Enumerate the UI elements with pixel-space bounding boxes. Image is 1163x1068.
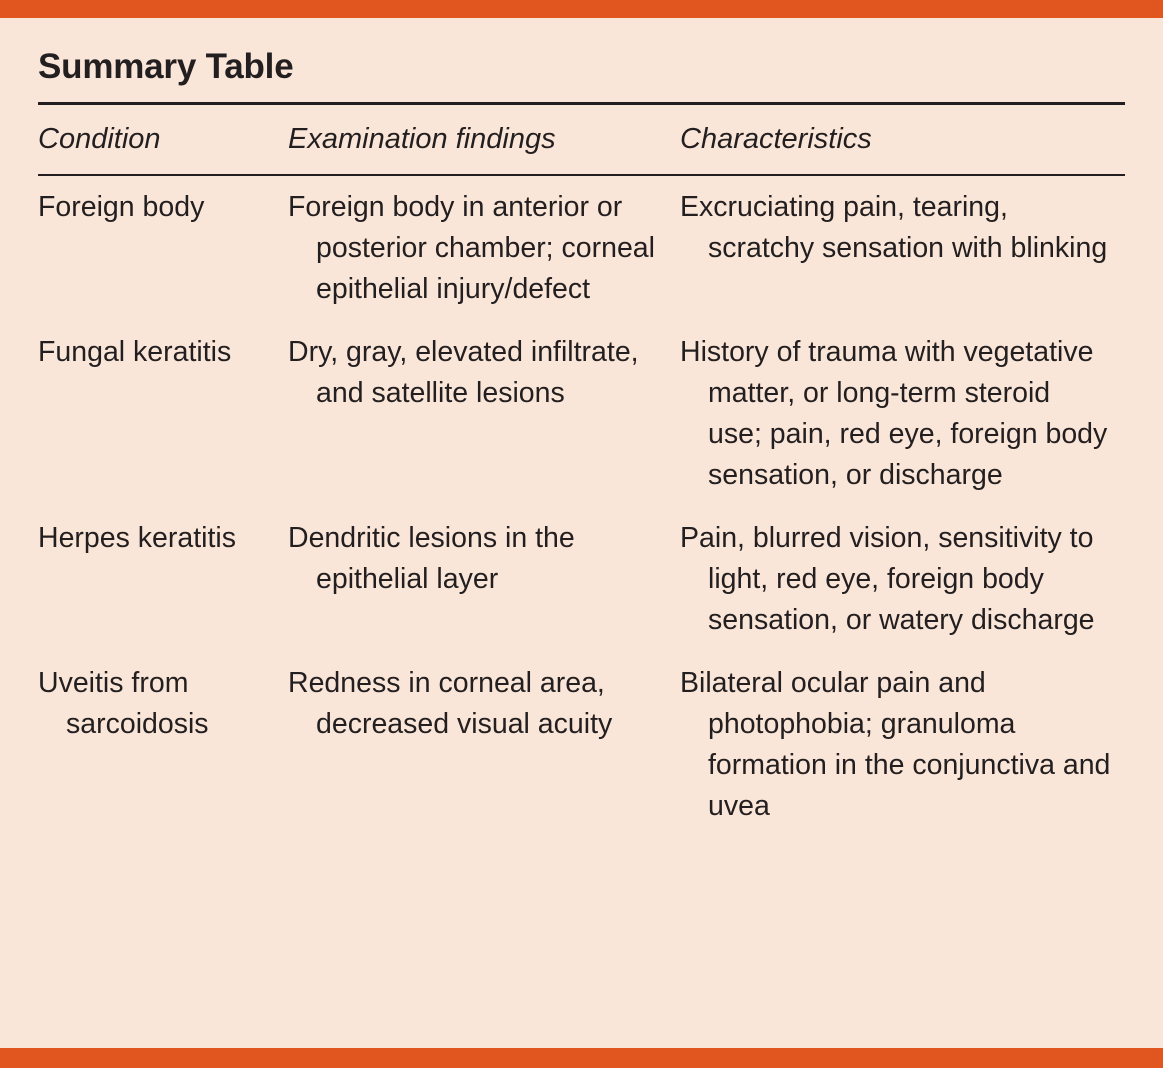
table-row: Herpes keratitis Dendritic lesions in th… bbox=[38, 507, 1125, 652]
cell-characteristics: Bilateral ocular pain and photophobia; g… bbox=[680, 652, 1125, 838]
cell-examination-findings: Foreign body in anterior or posterior ch… bbox=[288, 176, 680, 321]
bottom-accent-bar bbox=[0, 1048, 1163, 1068]
table-content: Summary Table Condition Examination find… bbox=[38, 18, 1125, 838]
column-header-condition: Condition bbox=[38, 105, 288, 174]
cell-examination-findings: Dry, gray, elevated infiltrate, and sate… bbox=[288, 321, 680, 507]
cell-examination-findings: Dendritic lesions in the epithelial laye… bbox=[288, 507, 680, 652]
table-header: Condition Examination findings Character… bbox=[38, 105, 1125, 174]
table-row: Fungal keratitis Dry, gray, elevated inf… bbox=[38, 321, 1125, 507]
table-body: Foreign body Foreign body in anterior or… bbox=[38, 176, 1125, 838]
cell-examination-findings: Redness in corneal area, decreased visua… bbox=[288, 652, 680, 838]
table-row: Uveitis from sarcoidosis Redness in corn… bbox=[38, 652, 1125, 838]
summary-table-body: Foreign body Foreign body in anterior or… bbox=[38, 176, 1125, 838]
table-header-row: Condition Examination findings Character… bbox=[38, 105, 1125, 174]
column-header-examination-findings: Examination findings bbox=[288, 105, 680, 174]
cell-condition: Uveitis from sarcoidosis bbox=[38, 652, 288, 838]
cell-characteristics: Pain, blurred vision, sensitivity to lig… bbox=[680, 507, 1125, 652]
column-header-characteristics: Characteristics bbox=[680, 105, 1125, 174]
cell-condition: Fungal keratitis bbox=[38, 321, 288, 507]
cell-characteristics: Excruciating pain, tearing, scratchy sen… bbox=[680, 176, 1125, 321]
cell-condition: Foreign body bbox=[38, 176, 288, 321]
cell-condition: Herpes keratitis bbox=[38, 507, 288, 652]
cell-characteristics: History of trauma with vegetative matter… bbox=[680, 321, 1125, 507]
table-row: Foreign body Foreign body in anterior or… bbox=[38, 176, 1125, 321]
page-title: Summary Table bbox=[38, 18, 1125, 87]
summary-table: Condition Examination findings Character… bbox=[38, 105, 1125, 174]
top-accent-bar bbox=[0, 0, 1163, 18]
summary-table-page: Summary Table Condition Examination find… bbox=[0, 0, 1163, 1068]
